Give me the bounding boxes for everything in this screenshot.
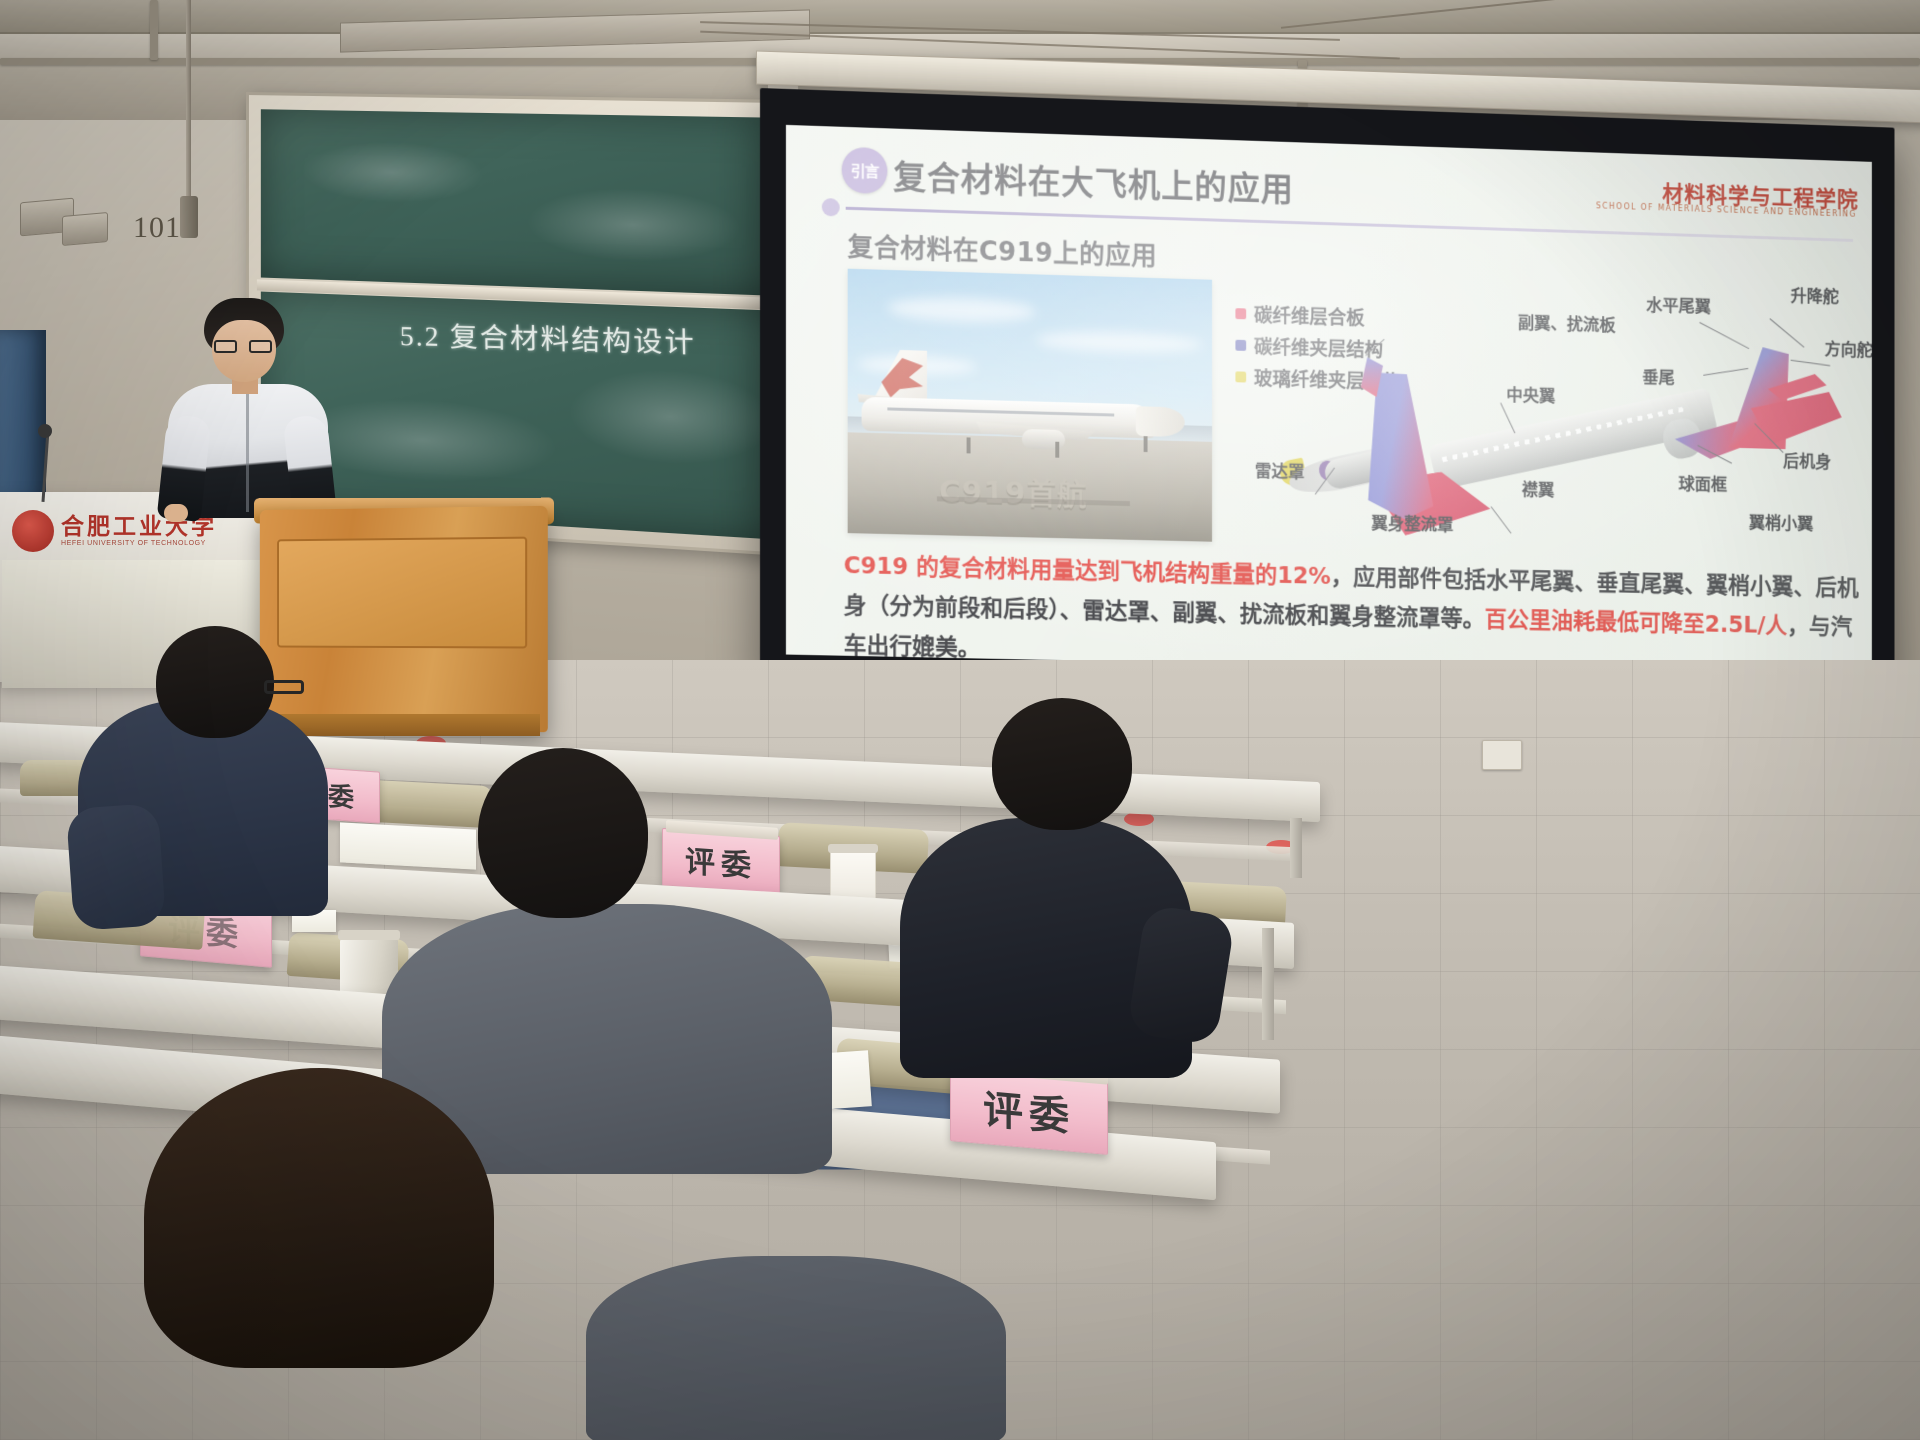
audience-member-1: [78, 620, 338, 920]
intro-badge: 引言: [842, 147, 888, 194]
diagram-label-center-wing: 中央翼: [1506, 381, 1555, 407]
diagram-label-radome: 雷达罩: [1255, 457, 1305, 483]
leader-line: [1365, 339, 1384, 356]
header-bullet-dot: [822, 198, 840, 217]
diagram-center-wing-part: [1357, 371, 1435, 522]
body-highlight-2: 百公里油耗最低可降至2.5L/人: [1485, 607, 1787, 639]
photo-caption: C919首航: [939, 467, 1087, 514]
room-number-sign: 101: [128, 206, 186, 250]
diagram-label-elevator: 升降舵: [1791, 282, 1839, 308]
diagram-label-hstab: 水平尾翼: [1646, 291, 1711, 317]
presenter: [160, 298, 336, 516]
bench-leg: [1290, 818, 1302, 878]
photo-plane-nose: [1136, 406, 1185, 437]
slide-header: 引言 复合材料在大飞机上的应用 材料科学与工程学院 SCHOOL OF MATE…: [786, 125, 1872, 246]
diagram-label-aileron-spoiler: 副翼、扰流板: [1518, 309, 1616, 336]
screen-surface: 引言 复合材料在大飞机上的应用 材料科学与工程学院 SCHOOL OF MATE…: [786, 125, 1872, 677]
wall-outlet: [1482, 740, 1522, 770]
presenter-hand-left: [164, 504, 188, 522]
diagram-label-winglet: 翼梢小翼: [1749, 509, 1813, 535]
slide-title: 复合材料在大飞机上的应用: [893, 150, 1293, 211]
presenter-jacket-zipper: [246, 390, 249, 512]
screen-hanger-rod: [186, 0, 191, 210]
diagram-label-belly-fairing: 翼身整流罩: [1371, 509, 1453, 536]
presentation-slide: 引言 复合材料在大飞机上的应用 材料科学与工程学院 SCHOOL OF MATE…: [786, 125, 1872, 677]
microphone-head: [38, 424, 52, 438]
audience-head: [992, 698, 1132, 830]
body-highlight-1: C919 的复合材料用量达到飞机结构重量的12%: [844, 553, 1331, 590]
slide-body-text: C919 的复合材料用量达到飞机结构重量的12%，应用部件包括水平尾翼、垂直尾翼…: [844, 546, 1868, 677]
audience-member-4: [144, 1068, 504, 1440]
diagram-label-vfin: 垂尾: [1642, 363, 1674, 388]
aircraft-structure-diagram: 升降舵 水平尾翼 方向舵 副翼、扰流板 垂尾 中央翼 后机身 球面框 襟翼 雷达…: [1210, 258, 1872, 570]
blackboard-upper-panel: [261, 109, 795, 296]
diagram-label-spherical-frame: 球面框: [1679, 470, 1728, 496]
c919-photo: C919首航: [848, 269, 1212, 542]
audience-member-5: [586, 1256, 1016, 1440]
audience-torso: [586, 1256, 1006, 1440]
audience-member-3: [900, 698, 1200, 1078]
presenter-glasses: [214, 340, 272, 353]
leader-line: [1491, 506, 1512, 533]
classroom-scene: 101 5.2 复合材料结构设计 引言 复合材料在大飞机上的应用 材料科学与工程…: [0, 0, 1920, 1440]
bench-leg: [1262, 928, 1274, 1040]
ceiling-beam-secondary: [0, 34, 1920, 60]
audience-head: [478, 748, 648, 918]
university-seal: [12, 510, 54, 552]
audience-head: [144, 1068, 494, 1368]
diagram-label-flap: 襟翼: [1522, 476, 1555, 501]
diagram-label-rudder: 方向舵: [1825, 335, 1872, 361]
wall-speaker-2: [62, 212, 108, 246]
audience-arm: [66, 803, 166, 931]
audience-glasses: [264, 680, 304, 694]
audience-head: [156, 626, 274, 738]
projection-screen: 引言 复合材料在大飞机上的应用 材料科学与工程学院 SCHOOL OF MATE…: [760, 88, 1894, 710]
ceiling-pipe-left: [150, 0, 158, 60]
slide-subtitle: 复合材料在C919上的应用: [848, 227, 1158, 273]
university-name-en: HEFEI UNIVERSITY OF TECHNOLOGY: [61, 540, 217, 547]
name-card-text: 评委: [983, 1077, 1075, 1143]
blackboard-handwriting: 5.2 复合材料结构设计: [399, 313, 696, 360]
diagram-label-aft-fuselage: 后机身: [1783, 447, 1831, 473]
